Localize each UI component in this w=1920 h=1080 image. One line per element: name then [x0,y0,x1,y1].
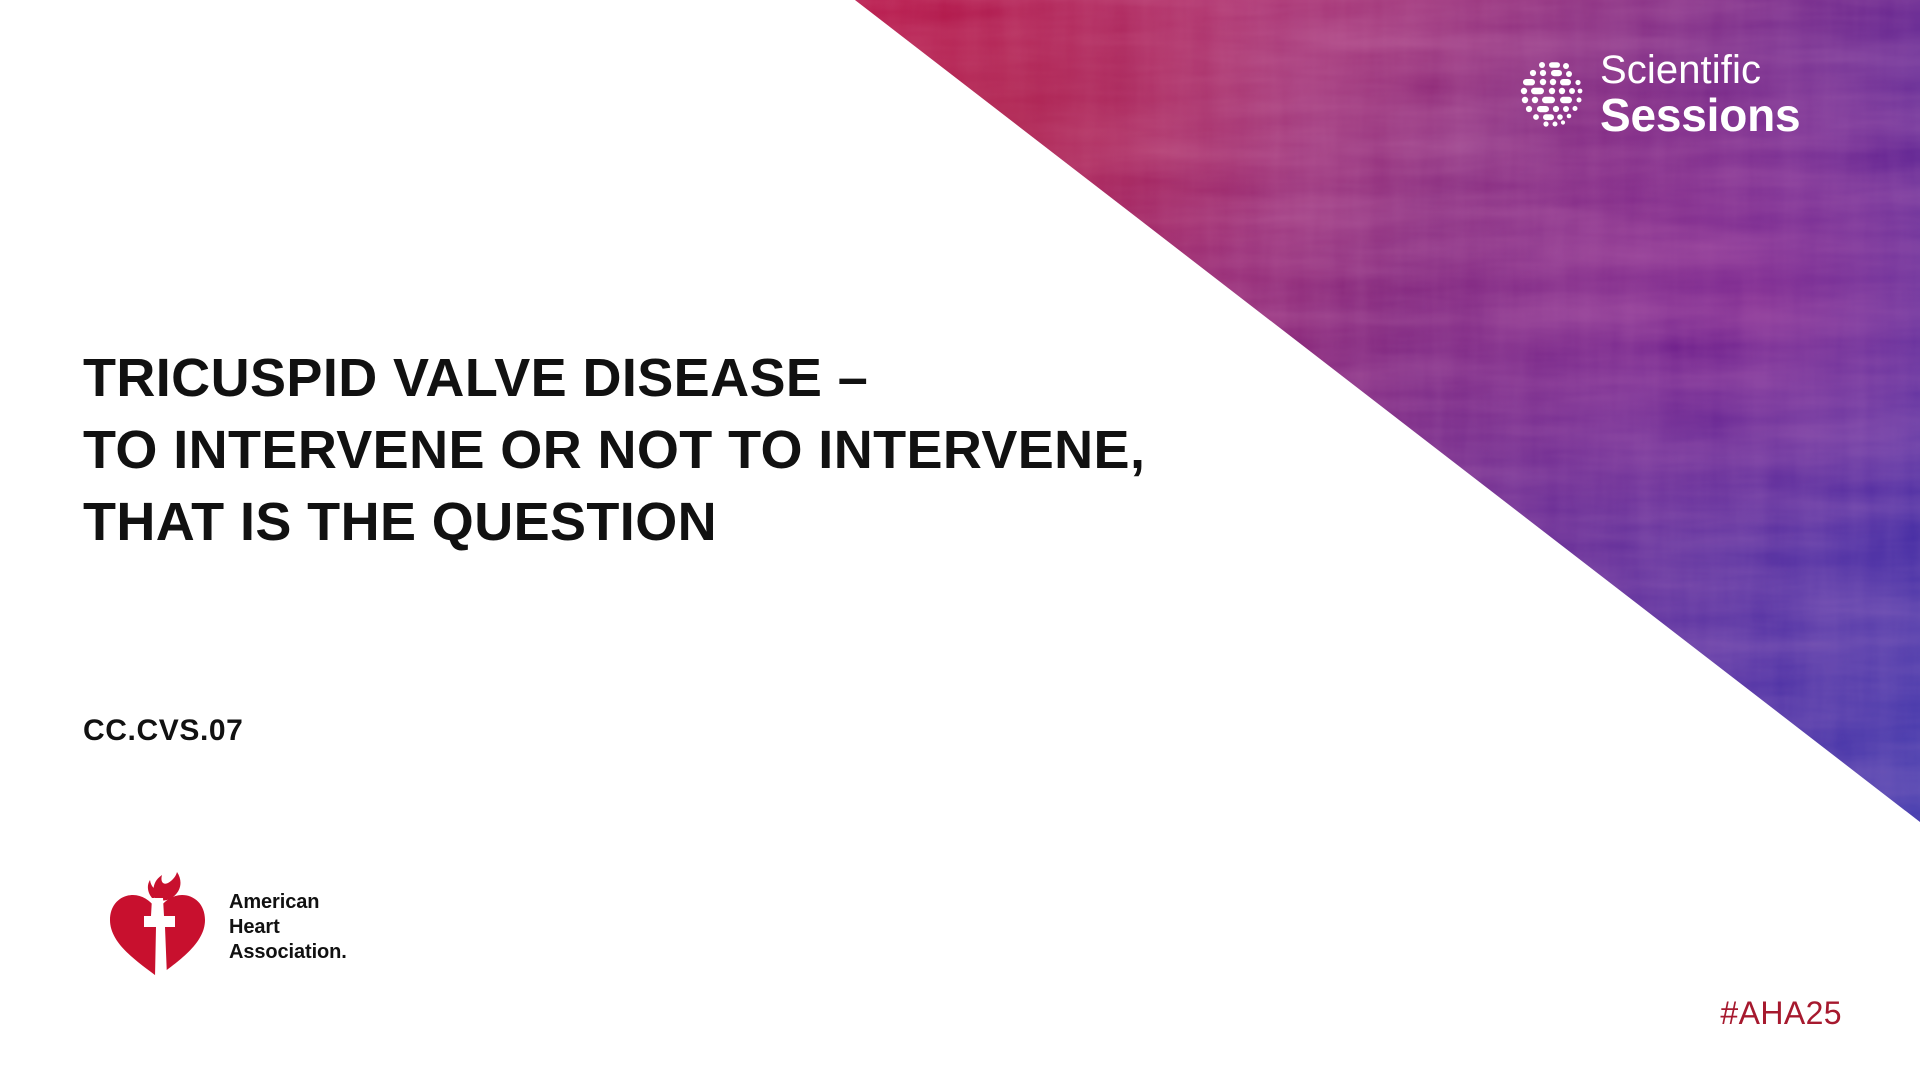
event-hashtag: #AHA25 [1720,995,1842,1032]
aha-name-line-1: American [229,890,347,915]
aha-name-line-3: Association. [229,940,347,965]
logo-line-scientific: Scientific [1600,50,1800,90]
aha-name-line-2: Heart [229,915,347,940]
scientific-sessions-wordmark: Scientific Sessions [1600,50,1800,138]
session-code: CC.CVS.07 [83,714,243,748]
page-title: TRICUSPID VALVE DISEASE – TO INTERVENE O… [83,342,1203,558]
title-line-2: TO INTERVENE OR NOT TO INTERVENE, [83,414,1203,486]
title-line-1: TRICUSPID VALVE DISEASE – [83,342,1203,414]
scientific-sessions-logo: Scientific Sessions [1516,50,1800,138]
dotted-globe-icon [1516,59,1586,129]
aha-wordmark: American Heart Association. [229,890,347,965]
title-line-3: THAT IS THE QUESTION [83,486,1203,558]
american-heart-association-logo: American Heart Association. [100,872,347,982]
aha-heart-torch-icon [100,872,215,982]
logo-line-sessions: Sessions [1600,92,1800,138]
slide-root: Scientific Sessions TRICUSPID VALVE DISE… [0,0,1920,1080]
